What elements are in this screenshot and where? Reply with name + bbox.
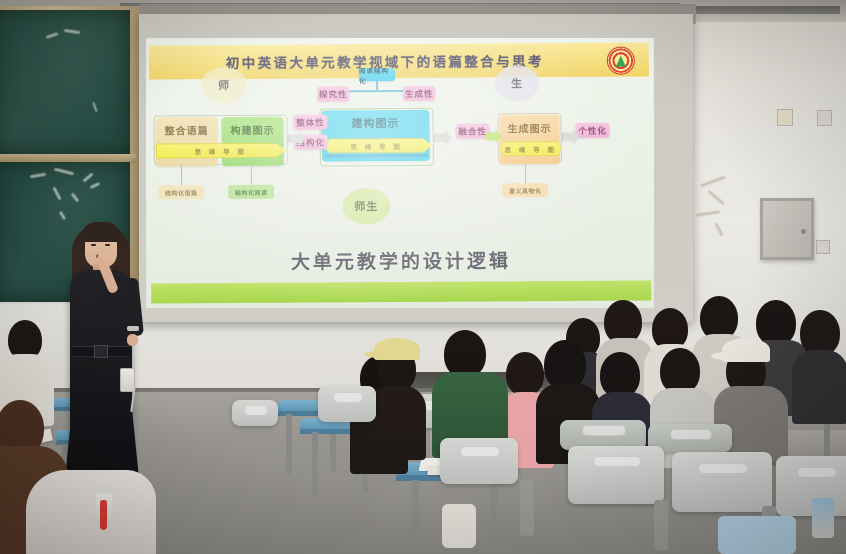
classroom-photo-scene: 初中英语大单元教学视域下的语篇整合与思考 师 生 师生 整合语篇 构建图示 建构… [0, 0, 846, 554]
emblem-tree-shape [616, 55, 626, 66]
sublabel-structured-reading: 结构化阅读 [228, 185, 274, 199]
tick-middle [251, 165, 252, 185]
sublabel-structured-text: 结构化语篇 [158, 185, 204, 199]
box-build-diagram: 构建图示 [221, 117, 284, 166]
flow-arrow-2 [434, 130, 452, 146]
wall-plate-3 [816, 240, 830, 254]
presenter-eye-left [91, 244, 96, 246]
slide-caption: 大单元教学的设计逻辑 [147, 245, 654, 275]
pill-holistic: 整体性 [293, 114, 327, 129]
head [444, 330, 486, 378]
presenter-eye-right [105, 244, 110, 246]
presenter-fringe [81, 222, 121, 242]
blue-cloth [718, 516, 796, 554]
pill-generative: 生成性 [403, 86, 435, 101]
torso-hair [368, 386, 426, 460]
tick-left [181, 165, 182, 185]
desk-leg [312, 432, 318, 496]
presenter-wristwatch [127, 326, 139, 331]
sublabel-meaning-materialized: 意义具物化 [502, 183, 548, 197]
chair-back-4 [568, 446, 664, 504]
projected-slide-area: 初中英语大单元教学视域下的语篇整合与思考 师 生 师生 整合语篇 构建图示 建构… [146, 38, 654, 308]
pill-inquiry: 探究性 [317, 86, 349, 101]
arrow-bar-left: 思 维 导 图 [156, 143, 286, 159]
chair-back-6 [776, 456, 846, 516]
presentation-slide: 初中英语大单元教学视域下的语篇整合与思考 师 生 师生 整合语篇 构建图示 建构… [146, 38, 654, 308]
pill-reading-structuring: 阅读结构化 [359, 68, 395, 81]
bottle-cap-icon [96, 486, 112, 494]
desk-leg [490, 480, 497, 550]
head [544, 340, 586, 390]
baseball-cap-icon [374, 338, 420, 360]
presenter-left-hand [127, 334, 138, 346]
tick-right [525, 163, 526, 183]
chair-back-1 [318, 386, 376, 422]
torso [792, 350, 846, 424]
pill-integrative: 融合性 [455, 123, 489, 138]
head [506, 352, 544, 396]
school-emblem-icon [607, 47, 635, 75]
desk-leg [286, 414, 292, 474]
role-circle-teacher-student: 师生 [342, 188, 390, 224]
chair-back-9 [232, 400, 278, 426]
role-circle-student: 生 [495, 65, 539, 101]
wall-plate-1 [777, 109, 793, 126]
white-cap-icon [722, 338, 770, 362]
red-marker [100, 500, 107, 530]
green-chalkboard-upper [0, 10, 130, 154]
presenter-right-hand [98, 248, 109, 259]
cyan-underline [324, 154, 428, 158]
chair-back-5 [672, 452, 772, 512]
box-generate-diagram: 生成图示 [499, 115, 560, 164]
slide-footer-bar [151, 280, 651, 303]
chair-back-3 [440, 438, 518, 484]
pill-personalized: 个性化 [575, 123, 609, 138]
chair-arm-1 [520, 480, 534, 536]
arrow-bar-right: 思 维 导 图 [500, 141, 562, 156]
chair-arm-2 [654, 500, 668, 550]
torso [26, 470, 156, 554]
desk-leg [412, 480, 419, 554]
arrow-bar-middle: 思 维 导 图 [322, 138, 432, 154]
role-circle-teacher: 师 [201, 67, 247, 103]
wall-plate-2 [817, 110, 832, 126]
handbag-on-floor [442, 504, 476, 548]
ceiling-rail-right [690, 6, 840, 14]
wall-electrical-panel [760, 198, 814, 260]
box-integrate-text: 整合语篇 [155, 117, 218, 166]
bottle-right [812, 498, 834, 538]
presenter-belt-buckle [94, 345, 108, 358]
